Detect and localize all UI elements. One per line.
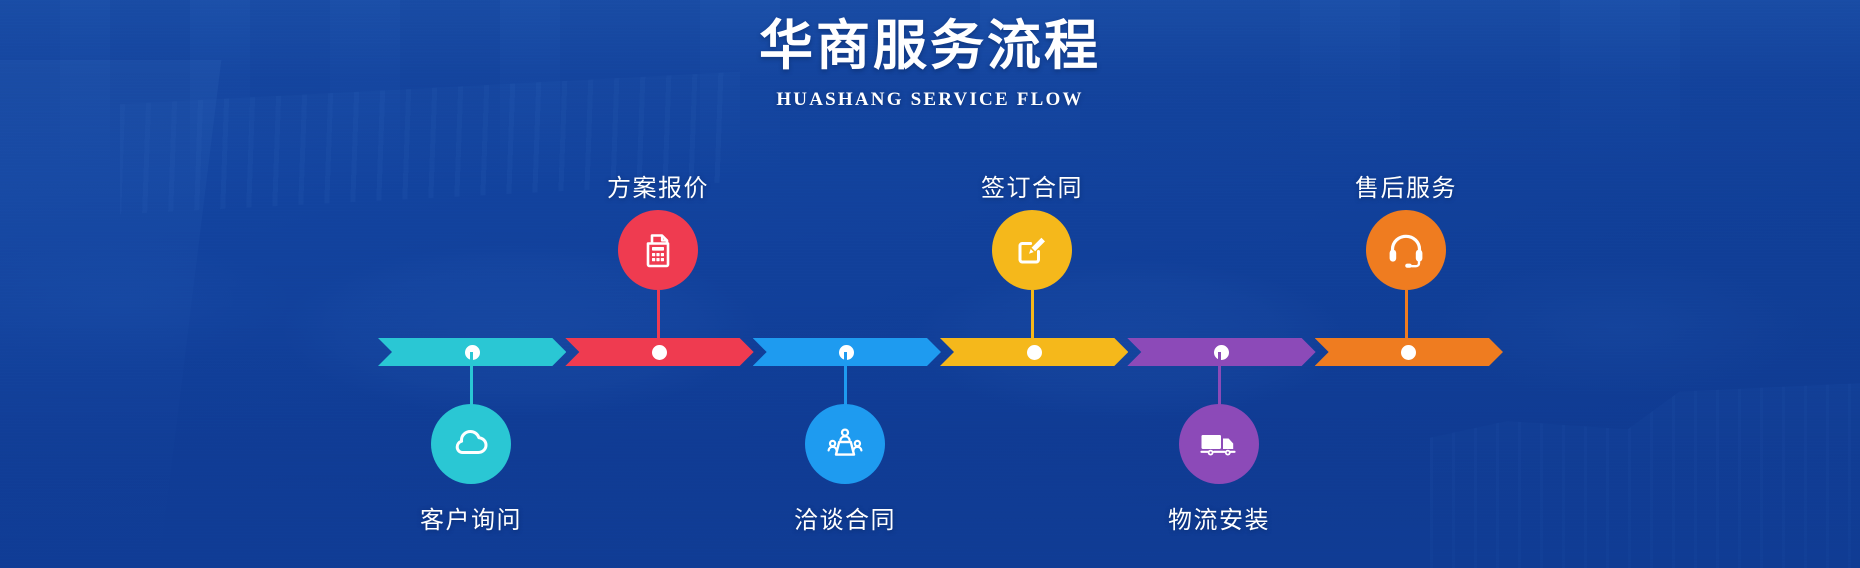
step-icon-circle[interactable]: [431, 404, 511, 484]
flow-step-6-label: 售后服务: [1355, 168, 1457, 203]
banner-subtitle: HUASHANG SERVICE FLOW: [0, 89, 1860, 111]
step-icon-circle[interactable]: [805, 404, 885, 484]
banner-heading: 华商服务流程 HUASHANG SERVICE FLOW: [0, 18, 1860, 111]
flow-step-5-label: 物流安装: [1168, 500, 1270, 535]
cloud-chat-icon: [449, 422, 493, 466]
step-icon-circle[interactable]: [618, 210, 698, 290]
step-icon-circle[interactable]: [1179, 404, 1259, 484]
connector-stem: [1218, 352, 1221, 408]
flow-step-5[interactable]: 物流安装: [1126, 352, 1312, 568]
pen-sign-icon: [1010, 228, 1054, 272]
calculator-quote-icon: [637, 229, 679, 271]
banner-title: 华商服务流程: [0, 18, 1860, 75]
connector-stem: [844, 352, 847, 408]
connector-stem: [1031, 290, 1034, 340]
flow-step-3-label: 洽谈合同: [794, 500, 896, 535]
connector-stem: [1405, 290, 1408, 340]
flow-step-1[interactable]: 客户询问: [378, 352, 564, 568]
flow-step-4[interactable]: 签订合同: [939, 168, 1125, 378]
flow-step-6[interactable]: 售后服务: [1313, 168, 1499, 378]
flow-step-4-label: 签订合同: [981, 168, 1083, 203]
step-icon-circle[interactable]: [992, 210, 1072, 290]
delivery-truck-icon: [1196, 421, 1242, 467]
flow-step-2-label: 方案报价: [607, 168, 709, 203]
meeting-table-icon: [823, 422, 867, 466]
connector-stem: [657, 290, 660, 340]
flow-step-3[interactable]: 洽谈合同: [752, 352, 938, 568]
service-flow-banner: 华商服务流程 HUASHANG SERVICE FLOW 客户询问: [0, 0, 1860, 568]
step-icon-circle[interactable]: [1366, 210, 1446, 290]
headset-support-icon: [1383, 227, 1429, 273]
connector-stem: [470, 352, 473, 408]
flow-step-1-label: 客户询问: [420, 500, 522, 535]
flow-step-2[interactable]: 方案报价: [565, 168, 751, 378]
